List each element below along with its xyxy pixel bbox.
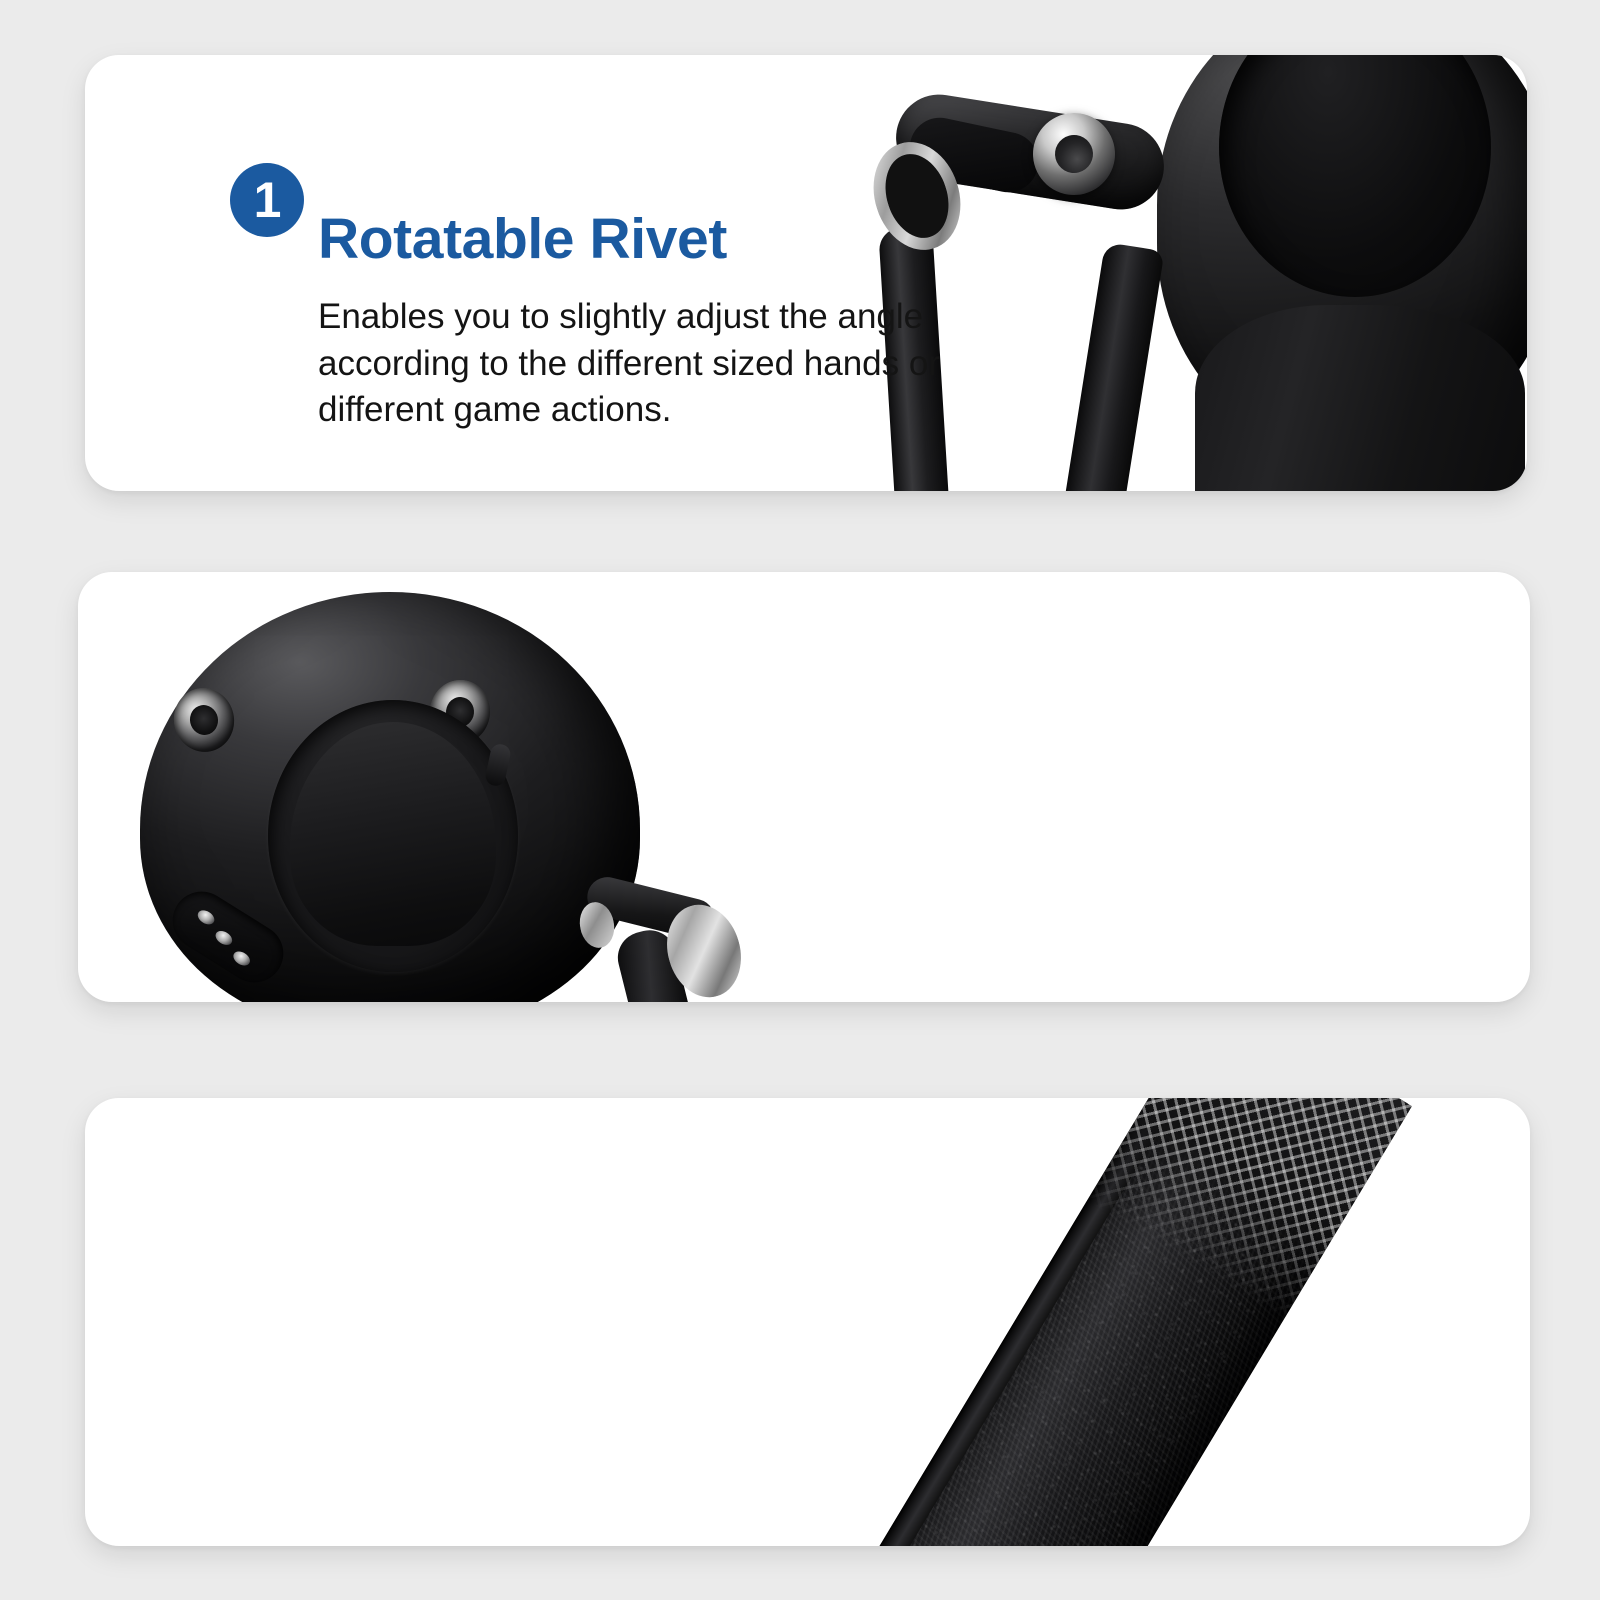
feature-description-1: Enables you to slightly adjust the angle… xyxy=(318,294,1048,434)
controller-ring-inner-shadow xyxy=(1219,55,1491,297)
velcro-hook-mesh-section xyxy=(1086,1098,1412,1320)
feature-title-1: Rotatable Rivet xyxy=(318,211,990,268)
charging-pin-3 xyxy=(231,949,253,969)
clip-strap-tail xyxy=(612,925,697,1002)
clip-small-ring-icon xyxy=(576,899,617,950)
charging-pin-slot xyxy=(162,881,295,994)
product-image-velcro-strap xyxy=(830,1098,1530,1546)
precise-hole-left-icon xyxy=(168,682,240,757)
step-number-badge-1: 1 xyxy=(230,163,304,237)
feature-card-3: 3 Velcro Strap Super stick and Not easy … xyxy=(85,1098,1530,1546)
controller-tracking-ring xyxy=(1157,55,1527,459)
feature-card-2: 2 Precise Hole Position The protective c… xyxy=(78,572,1530,1002)
strap-right-segment xyxy=(1061,242,1164,491)
precise-hole-right-icon xyxy=(427,677,493,747)
battery-cover-tab xyxy=(290,722,496,946)
feature-text-1: 1 Rotatable Rivet Enables you to slightl… xyxy=(230,163,990,434)
clip-d-ring-icon xyxy=(656,896,751,1002)
velcro-loop-fuzz-texture xyxy=(856,1164,1292,1546)
battery-cover-recess xyxy=(268,700,518,972)
product-image-precise-hole-position xyxy=(78,572,798,1002)
controller-body xyxy=(1195,305,1525,491)
rotatable-rivet-icon xyxy=(1028,108,1121,201)
controller-case-bottom xyxy=(140,592,640,1002)
charging-pin-1 xyxy=(195,908,217,928)
strap-clip-assembly xyxy=(568,868,768,1002)
velcro-strap-edge xyxy=(834,1098,1237,1546)
feature-card-1: 1 Rotatable Rivet Enables you to slightl… xyxy=(85,55,1527,491)
charging-pin-2 xyxy=(213,928,235,948)
clip-strap-band xyxy=(583,873,719,943)
side-port-cutout xyxy=(484,742,512,787)
velcro-strap xyxy=(834,1098,1412,1546)
